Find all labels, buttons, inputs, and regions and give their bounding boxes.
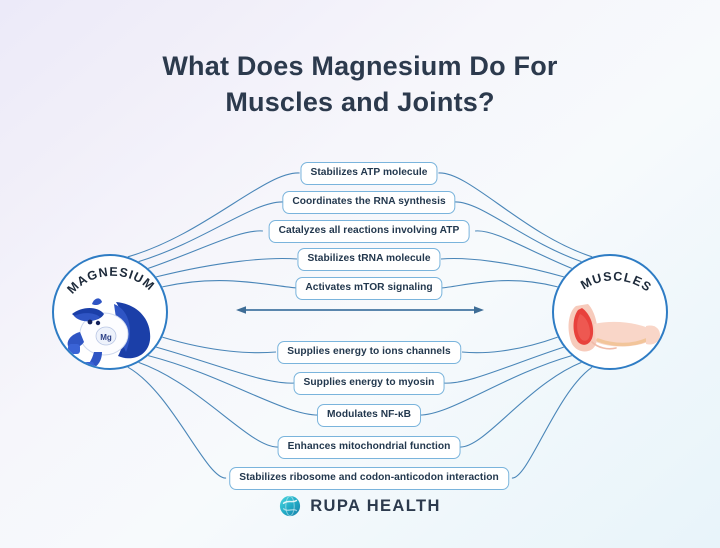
- node-magnesium[interactable]: MAGNESIUM Mg: [52, 254, 168, 370]
- label-upper-3[interactable]: Catalyzes all reactions involving ATP: [269, 220, 470, 243]
- label-upper-2[interactable]: Coordinates the RNA synthesis: [282, 191, 455, 214]
- footer-brand[interactable]: RUPA HEALTH: [0, 495, 720, 517]
- page-title: What Does Magnesium Do For Muscles and J…: [0, 48, 720, 120]
- rupa-globe-logo-icon: [279, 495, 301, 517]
- label-lower-3[interactable]: Modulates NF-κB: [317, 404, 421, 427]
- node-muscles[interactable]: MUSCLES: [552, 254, 668, 370]
- svg-text:Mg: Mg: [100, 333, 112, 342]
- bidirectional-arrow: [236, 306, 484, 314]
- label-upper-5[interactable]: Activates mTOR signaling: [295, 277, 442, 300]
- label-lower-5[interactable]: Stabilizes ribosome and codon-anticodon …: [229, 467, 509, 490]
- label-upper-4[interactable]: Stabilizes tRNA molecule: [297, 248, 440, 271]
- magnesium-superhero-icon: Mg: [54, 290, 168, 370]
- label-lower-2[interactable]: Supplies energy to myosin: [294, 372, 445, 395]
- label-lower-1[interactable]: Supplies energy to ions channels: [277, 341, 461, 364]
- label-upper-1[interactable]: Stabilizes ATP molecule: [300, 162, 437, 185]
- footer-wordmark: RUPA HEALTH: [310, 497, 441, 516]
- label-lower-4[interactable]: Enhances mitochondrial function: [278, 436, 461, 459]
- infographic-canvas: What Does Magnesium Do For Muscles and J…: [0, 0, 720, 548]
- flexed-arm-icon: [554, 290, 668, 370]
